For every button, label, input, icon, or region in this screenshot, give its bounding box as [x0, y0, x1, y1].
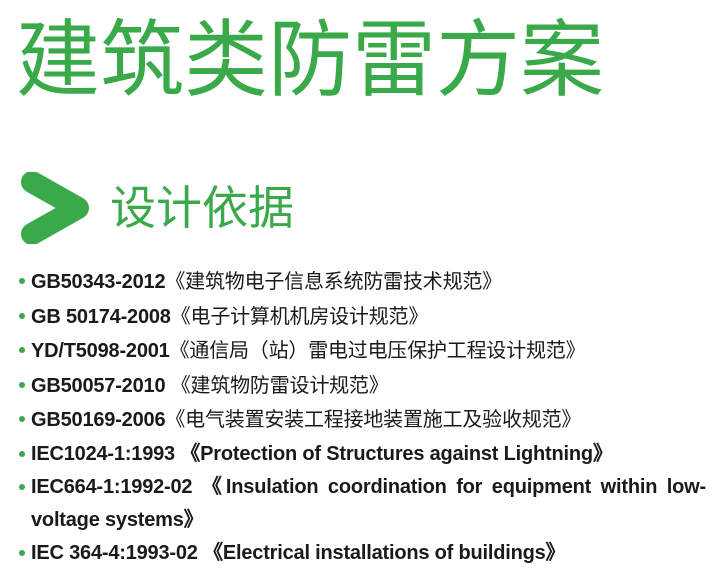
standard-code: GB50169-2006	[31, 409, 165, 431]
standard-title: 《建筑物防雷设计规范》	[171, 373, 389, 397]
standard-title: 《通信局（站）雷电过电压保护工程设计规范》	[170, 338, 586, 362]
standard-code: GB50343-2012	[31, 271, 165, 293]
list-item: IEC664-1:1992-02 《Insulation coordinatio…	[16, 471, 706, 536]
list-item: GB50057-2010 《建筑物防雷设计规范》	[16, 369, 706, 403]
list-item: YD/T5098-2001《通信局（站）雷电过电压保护工程设计规范》	[16, 334, 706, 368]
standard-gap	[192, 476, 202, 498]
list-item: GB50343-2012《建筑物电子信息系统防雷技术规范》	[16, 265, 706, 299]
list-item: IEC 364-4:1993-02 《Electrical installati…	[16, 537, 706, 570]
bullet-dot-icon	[19, 484, 25, 490]
standard-title: 《Electrical installations of buildings》	[203, 542, 565, 564]
standard-code: IEC1024-1:1993	[31, 443, 175, 465]
bullet-dot-icon	[19, 313, 25, 319]
section-heading-label: 设计依据	[110, 180, 294, 236]
standard-title: 《建筑物电子信息系统防雷技术规范》	[165, 269, 502, 293]
section-heading-row: 设计依据	[20, 168, 294, 248]
standard-code: IEC664-1:1992-02	[31, 476, 192, 498]
bullet-dot-icon	[19, 416, 25, 422]
standard-code: GB50057-2010	[31, 375, 165, 397]
standard-code: IEC 364-4:1993-02	[31, 542, 198, 564]
standard-code: GB 50174-2008	[31, 306, 171, 328]
standard-title: 《Protection of Structures against Lightn…	[180, 443, 612, 465]
standard-title: 《电子计算机机房设计规范》	[171, 304, 428, 328]
design-basis-list: GB50343-2012《建筑物电子信息系统防雷技术规范》 GB 50174-2…	[16, 265, 706, 571]
list-item: GB 50174-2008《电子计算机机房设计规范》	[16, 300, 706, 334]
standard-code: YD/T5098-2001	[31, 340, 170, 362]
bullet-dot-icon	[19, 347, 25, 353]
chevron-right-icon	[20, 172, 98, 244]
bullet-dot-icon	[19, 278, 25, 284]
slide-root: 建筑类防雷方案 设计依据 GB50343-2012《建筑物电子信息系统防雷技术规…	[0, 0, 718, 573]
bullet-dot-icon	[19, 451, 25, 457]
list-item: GB50169-2006《电气装置安装工程接地装置施工及验收规范》	[16, 403, 706, 437]
page-title: 建筑类防雷方案	[16, 12, 706, 108]
list-item: IEC1024-1:1993 《Protection of Structures…	[16, 438, 706, 471]
bullet-dot-icon	[19, 382, 25, 388]
standard-title: 《电气装置安装工程接地装置施工及验收规范》	[165, 407, 581, 431]
bullet-dot-icon	[19, 550, 25, 556]
